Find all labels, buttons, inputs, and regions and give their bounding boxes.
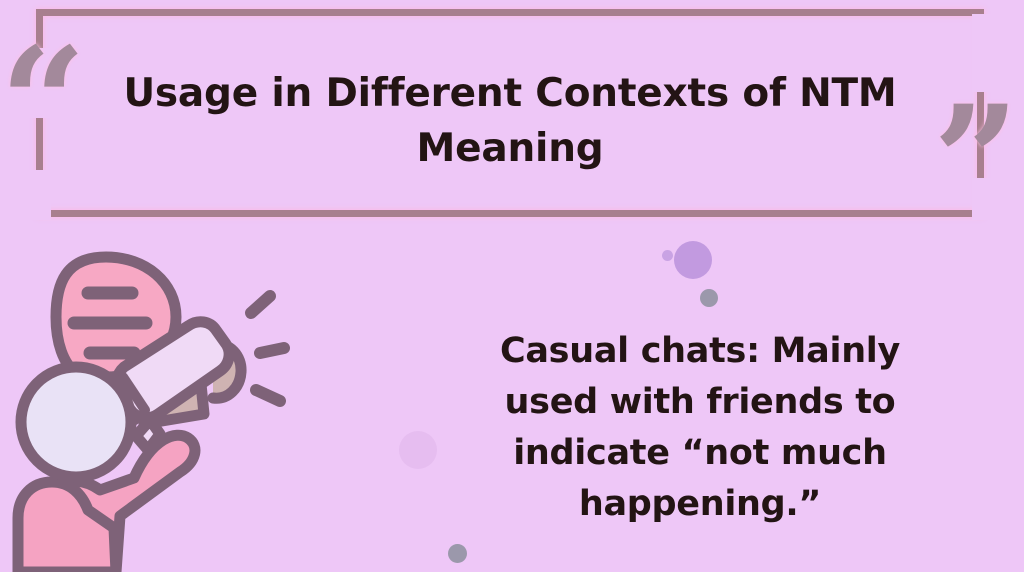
decor-dot-gray-lower <box>448 544 467 563</box>
body-text: Casual chats: Mainly used with friends t… <box>455 326 945 530</box>
person-with-megaphone-svg <box>8 238 308 572</box>
person-with-megaphone-illustration <box>8 238 308 572</box>
decor-dot-purple-small <box>662 250 673 261</box>
decor-dot-gray-upper <box>700 289 718 307</box>
decor-dot-faint-circle <box>399 431 437 469</box>
page-title: Usage in Different Contexts of NTM Meani… <box>90 66 930 177</box>
close-quote-icon: ” <box>933 86 1019 236</box>
decor-dot-purple-large <box>674 241 712 279</box>
slide-canvas: “ ” Usage in Different Contexts of NTM M… <box>0 0 1024 572</box>
open-quote-icon: “ <box>0 28 86 178</box>
